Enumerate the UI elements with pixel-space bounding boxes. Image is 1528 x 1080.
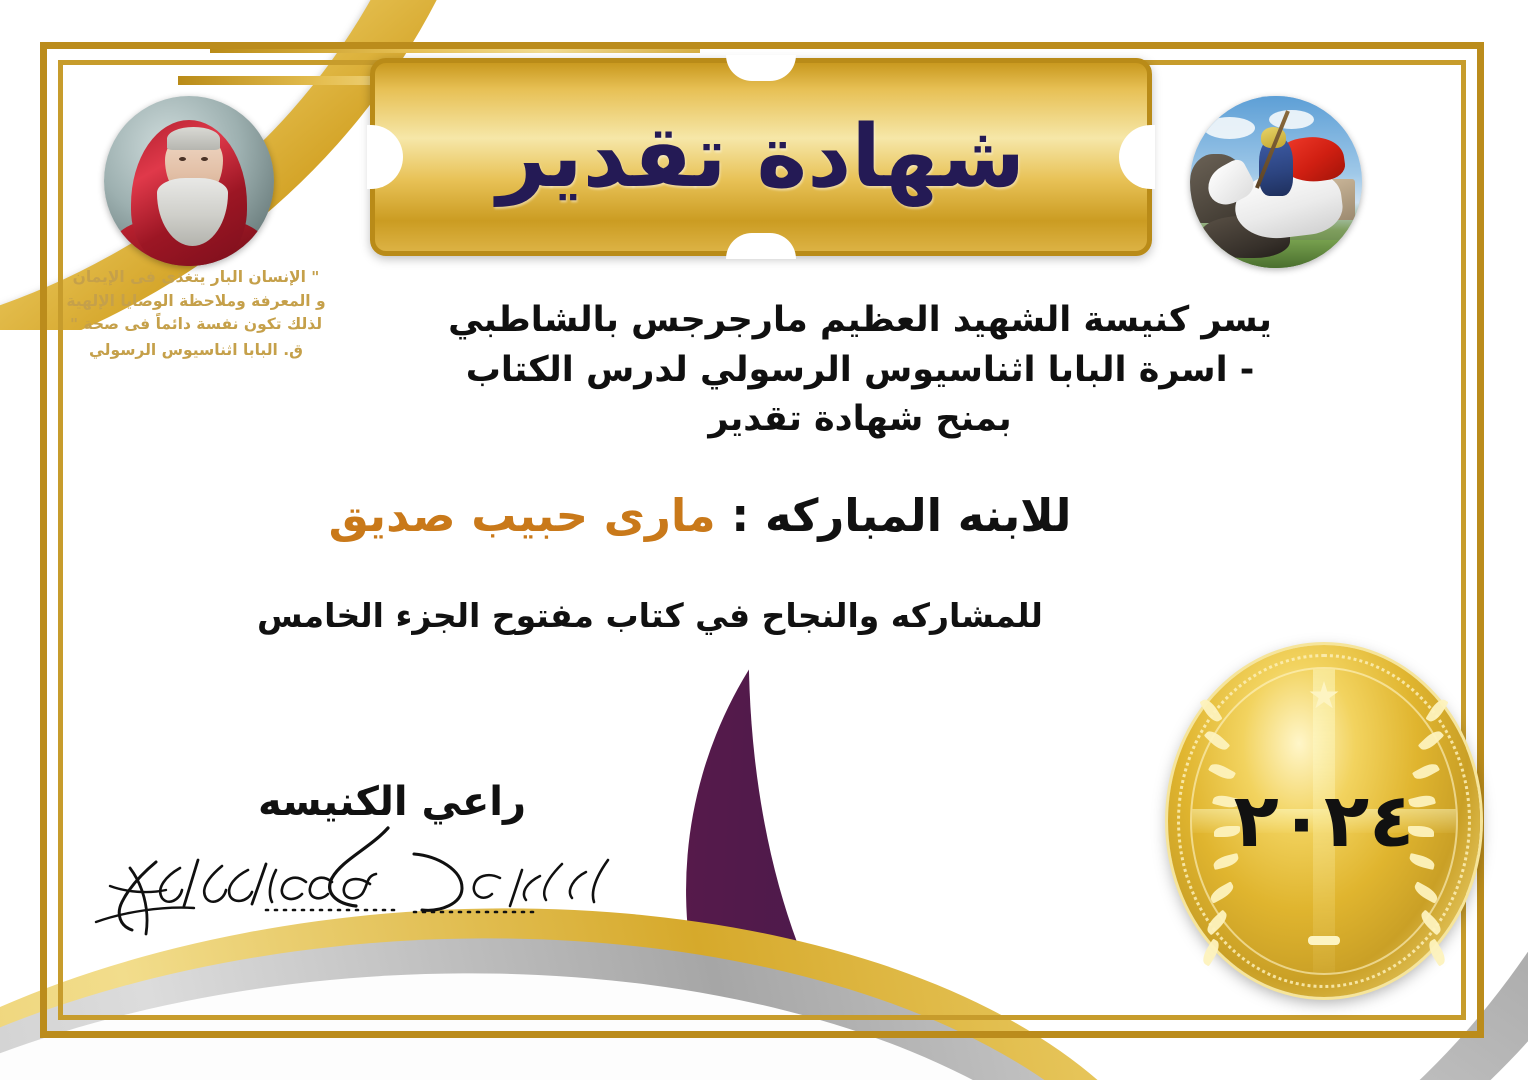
title-plaque: شهادة تقدير — [370, 58, 1152, 256]
portrait-hair — [167, 127, 220, 151]
quote-line: " الإنسان البار يتغذى فى الإيمان — [60, 266, 332, 290]
body-line: يسر كنيسة الشهيد العظيم مارجرجس بالشاطبي — [330, 296, 1390, 346]
icon-cloud — [1269, 110, 1314, 129]
icon-cloud — [1204, 117, 1256, 139]
medal-year-text: ٢٠٢٤ — [1168, 645, 1480, 997]
body-line: بمنح شهادة تقدير — [330, 395, 1390, 445]
gold-bar-top — [210, 44, 700, 53]
signature-label: راعي الكنيسه — [232, 779, 552, 825]
certificate-page: شهادة تقدير " الإنسان البار يتغذى فى الإ… — [0, 0, 1528, 1080]
saint-george-icon — [1190, 96, 1362, 268]
page-title: شهادة تقدير — [370, 58, 1152, 256]
year-medal: ٢٠٢٤ — [1168, 645, 1480, 997]
quote-block: " الإنسان البار يتغذى فى الإيمان و المعر… — [60, 266, 332, 362]
signature-icon — [70, 826, 630, 941]
quote-line: و المعرفة وملاحظة الوصايا الإلهية — [60, 290, 332, 314]
recipient-line: للابنه المباركه : مارى حبيب صديق — [200, 488, 1200, 544]
recipient-label: للابنه المباركه : — [716, 489, 1072, 542]
body-line: - اسرة البابا اثناسيوس الرسولي لدرس الكت… — [330, 346, 1390, 396]
quote-attribution: ق. البابا اثناسيوس الرسولي — [60, 339, 332, 363]
quote-line: لذلك تكون نفسة دائماً فى صحة " — [60, 313, 332, 337]
recipient-name: مارى حبيب صديق — [329, 489, 716, 542]
award-reason: للمشاركه والنجاح في كتاب مفتوح الجزء الخ… — [150, 596, 1150, 635]
certificate-body-text: يسر كنيسة الشهيد العظيم مارجرجس بالشاطبي… — [330, 296, 1390, 445]
signature-handwriting — [70, 826, 630, 941]
pope-athanasius-portrait-icon — [104, 96, 274, 266]
